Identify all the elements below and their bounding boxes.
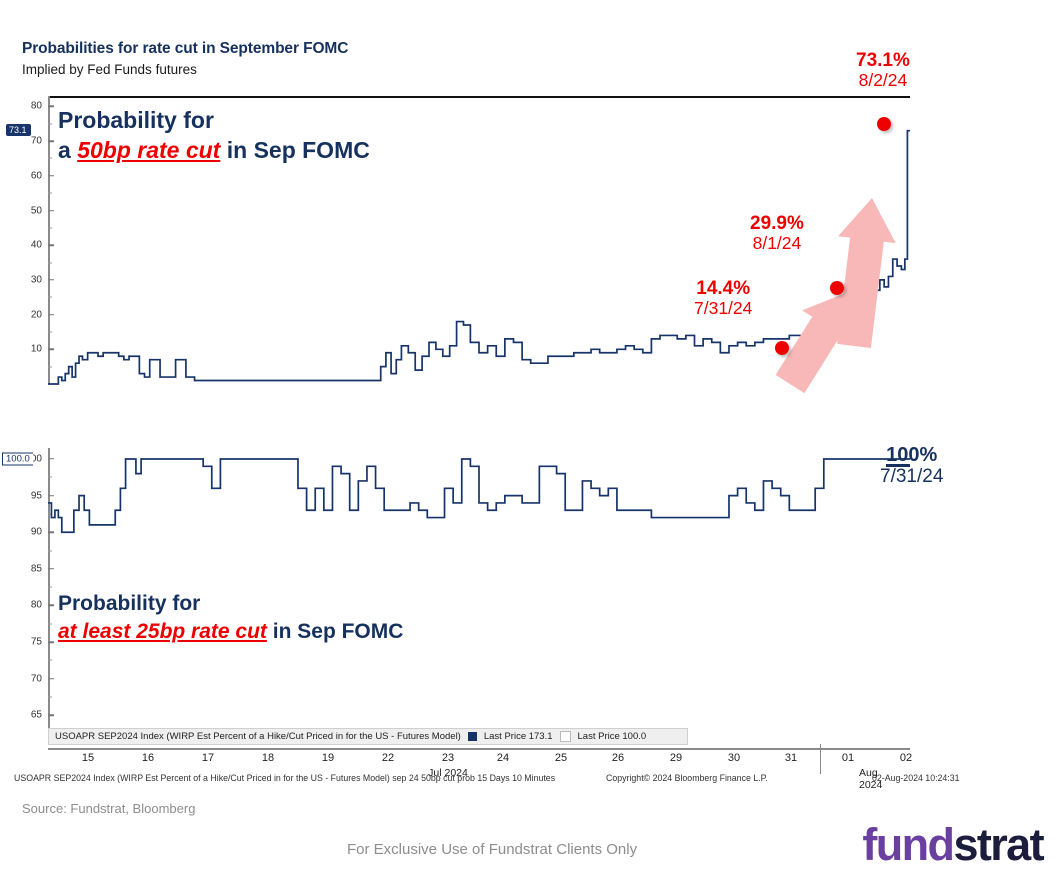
bloomberg-timestamp: 02-Aug-2024 10:24:31 <box>872 773 960 783</box>
legend-swatch-series2 <box>560 731 571 742</box>
bottom-label-line2-suffix: in Sep FOMC <box>267 620 404 643</box>
y-tick-label: 80 <box>31 600 48 611</box>
top-chart-last-price-badge: 73.1 <box>6 124 31 136</box>
marker-dot-73-1 <box>877 117 891 131</box>
y-tick-label: 85 <box>31 563 48 574</box>
legend-description: USOAPR SEP2024 Index (WIRP Est Percent o… <box>55 731 461 742</box>
bottom-chart-description-label: Probability for at least 25bp rate cut i… <box>58 590 403 645</box>
callout-100-date: 7/31/24 <box>880 466 943 487</box>
x-tick-label: 22 <box>382 752 394 764</box>
logo-strat: strat <box>953 819 1043 870</box>
x-tick-label: 01 <box>842 752 854 764</box>
top-chart-description-label: Probability for a 50bp rate cut in Sep F… <box>58 105 370 166</box>
x-tick-label: 30 <box>728 752 740 764</box>
x-tick-label: 26 <box>612 752 624 764</box>
x-tick-label: 24 <box>497 752 509 764</box>
callout-29-9-value: 29.9% <box>750 213 804 234</box>
top-label-highlight: 50bp rate cut <box>77 137 220 163</box>
y-tick-label: 90 <box>31 527 48 538</box>
y-tick-label: 20 <box>31 309 48 320</box>
callout-73-1-date: 8/2/24 <box>856 71 910 91</box>
bottom-label-highlight: at least 25bp rate cut <box>58 620 267 643</box>
x-axis-month-divider <box>820 744 821 774</box>
x-tick-label: 16 <box>142 752 154 764</box>
callout-73-1-value: 73.1% <box>856 50 910 71</box>
source-line: Source: Fundstrat, Bloomberg <box>22 801 195 816</box>
x-tick-label: 23 <box>442 752 454 764</box>
x-tick-label: 19 <box>322 752 334 764</box>
top-label-line2-prefix: a <box>58 137 77 163</box>
marker-dot-14-4 <box>775 341 789 355</box>
callout-29-9-date: 8/1/24 <box>750 234 804 254</box>
bottom-chart-last-price-badge: 100.0 <box>2 452 33 465</box>
y-tick-label: 50 <box>31 205 48 216</box>
callout-14-4-value: 14.4% <box>694 278 752 299</box>
callout-14-4: 14.4% 7/31/24 <box>694 278 752 319</box>
chart-page: Probabilities for rate cut in September … <box>0 0 1057 869</box>
legend-swatch-series1 <box>468 732 477 741</box>
x-tick-label: 15 <box>82 752 94 764</box>
top-label-line2-suffix: in Sep FOMC <box>220 137 370 163</box>
bloomberg-footer: USOAPR SEP2024 Index (WIRP Est Percent o… <box>14 773 1044 787</box>
legend-series1-label: Last Price 173.1 <box>484 731 553 742</box>
y-tick-label: 80 <box>31 101 48 112</box>
x-tick-label: 31 <box>785 752 797 764</box>
bottom-chart-series-line <box>48 448 910 730</box>
y-tick-label: 30 <box>31 274 48 285</box>
callout-100-value: 100% <box>880 444 943 466</box>
page-subtitle: Implied by Fed Funds futures <box>22 62 197 77</box>
page-title: Probabilities for rate cut in September … <box>22 40 348 58</box>
y-tick-label: 60 <box>31 170 48 181</box>
top-label-line1: Probability for <box>58 107 214 133</box>
y-tick-label: 95 <box>31 490 48 501</box>
y-tick-label: 70 <box>31 673 48 684</box>
marker-dot-29-9 <box>830 281 844 295</box>
x-tick-label: 18 <box>262 752 274 764</box>
callout-73-1: 73.1% 8/2/24 <box>856 50 910 91</box>
bottom-chart-panel: 65707580859095100 100.0 <box>48 448 910 730</box>
x-tick-label: 29 <box>670 752 682 764</box>
y-tick-label: 70 <box>31 136 48 147</box>
logo-fund: fund <box>862 819 953 870</box>
y-tick-label: 75 <box>31 637 48 648</box>
series-path <box>48 459 910 532</box>
fundstrat-logo: fundstrat <box>862 822 1043 867</box>
bloomberg-copyright: Copyright© 2024 Bloomberg Finance L.P. <box>606 773 768 783</box>
disclaimer-text: For Exclusive Use of Fundstrat Clients O… <box>347 841 637 858</box>
y-tick-label: 40 <box>31 240 48 251</box>
legend-series2-label: Last Price 100.0 <box>578 731 647 742</box>
x-tick-label: 25 <box>555 752 567 764</box>
x-axis-rule <box>48 748 910 750</box>
pink-arrow-second <box>837 198 896 348</box>
y-tick-label: 10 <box>31 344 48 355</box>
callout-14-4-date: 7/31/24 <box>694 299 752 319</box>
callout-100: 100% 7/31/24 <box>880 444 943 488</box>
bottom-label-line1: Probability for <box>58 592 200 615</box>
x-tick-label: 02 <box>900 752 912 764</box>
bloomberg-footer-description: USOAPR SEP2024 Index (WIRP Est Percent o… <box>14 773 555 783</box>
chart-legend: USOAPR SEP2024 Index (WIRP Est Percent o… <box>48 728 688 745</box>
callout-29-9: 29.9% 8/1/24 <box>750 213 804 254</box>
x-tick-label: 17 <box>202 752 214 764</box>
y-tick-label: 65 <box>31 710 48 721</box>
